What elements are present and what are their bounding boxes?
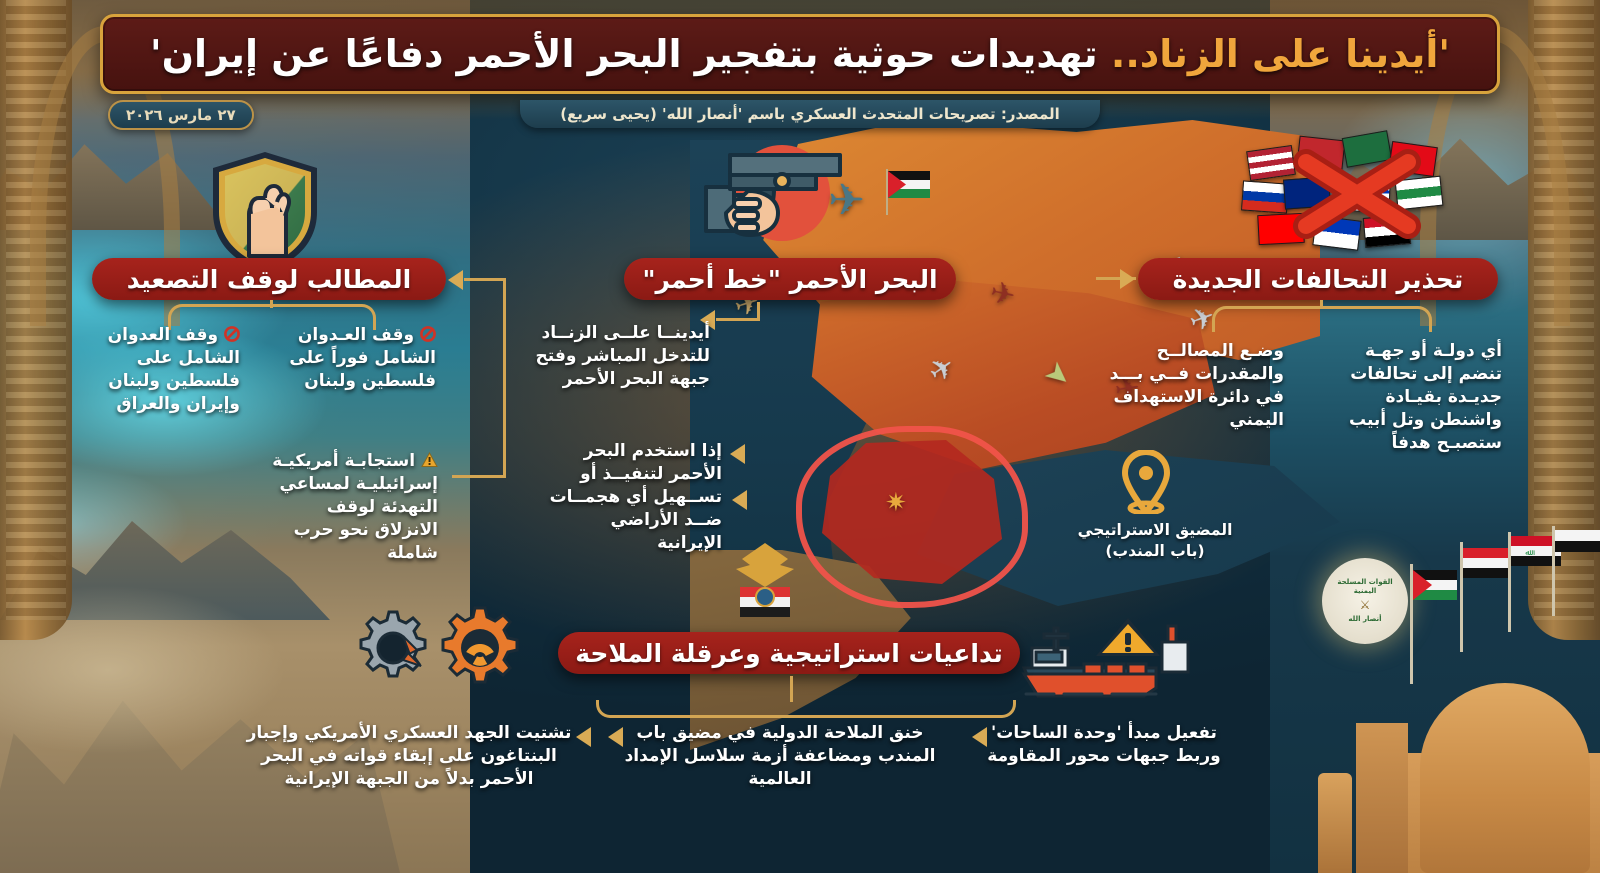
page-title-rest: تهديدات حوثية بتفجير البحر الأحمر دفاعًا… xyxy=(150,32,1111,76)
alliances-item-2: وضـع المصالــح والمقدرات فــي بـــد في د… xyxy=(1106,340,1284,432)
connector-arrow-into-alliances xyxy=(1120,269,1135,289)
section-header-demands: المطالب لوقف التصعيد xyxy=(92,258,446,300)
demands-item-3: وقف العدوان الشامل على فلسطين ولبنان وإي… xyxy=(60,324,240,416)
shield-fist-icon xyxy=(205,148,325,276)
armed-forces-emblem: القوات المسلحة اليمنية ⚔ أنصار الله xyxy=(1322,558,1408,644)
alliances-item-1: أي دولـة أو جهـة تنضم إلى تحالفات جديـدة… xyxy=(1330,340,1502,455)
flags-cluster-crossed-icon xyxy=(1240,130,1470,255)
connector-line xyxy=(464,278,506,281)
map-strait-label-line2: (باب المندب) xyxy=(1030,541,1280,562)
hand-holding-pistol-icon: ✈ xyxy=(700,135,900,253)
red-cross-out-icon xyxy=(1282,148,1432,240)
palestine-flag-icon xyxy=(884,167,932,217)
mosque-illustration: القوات المسلحة اليمنية ⚔ أنصار الله ﷲ xyxy=(1300,540,1600,873)
map-red-circle-annotation xyxy=(796,426,1028,608)
connector-brace-alliances xyxy=(1212,306,1432,332)
connector-arrow-red-sea-2 xyxy=(730,444,745,464)
map-strait-label-line1: المضيق الاستراتيجي xyxy=(1030,520,1280,541)
yemen-emblem-icon xyxy=(710,525,820,635)
date-badge: ٢٧ مارس ٢٠٢٦ xyxy=(108,100,254,130)
map-strait-label: المضيق الاستراتيجي (باب المندب) xyxy=(1030,520,1280,562)
mosque-dome xyxy=(1420,683,1590,873)
title-banner: 'أيدينا على الزناد.. تهديدات حوثية بتفجي… xyxy=(100,14,1500,94)
demands-item-3-text: وقف العدوان الشامل على فلسطين ولبنان وإي… xyxy=(108,325,240,414)
demands-item-2: استجابـة أمريكيـة إسرائيليـة لمساعي الته… xyxy=(262,450,438,565)
prohibition-icon xyxy=(420,326,436,342)
section-header-alliances: تحذير التحالفات الجديدة xyxy=(1138,258,1498,300)
flag-icon xyxy=(1550,526,1600,616)
map-pin-icon xyxy=(1120,450,1172,514)
map-target-marker: ✷ xyxy=(885,490,907,516)
prohibition-icon xyxy=(224,326,240,342)
red-sea-item-2: إذا استخدم البحر الأحمر لتنفيــذ أو تســ… xyxy=(540,440,722,555)
red-sea-item-1: أيدينــا علــى الزنــاد للتدخل المباشر و… xyxy=(532,322,710,391)
source-caption: المصدر: تصريحات المتحدث العسكري باسم 'أن… xyxy=(520,100,1100,128)
connector-line xyxy=(452,475,504,478)
mosque-tower xyxy=(1356,723,1408,873)
connector-stem-alliances xyxy=(1320,300,1323,308)
strategic-item-3: تشتيت الجهد العسكري الأمريكي وإجبار البن… xyxy=(244,722,574,791)
connector-arrow-into-demands xyxy=(448,270,463,290)
strategic-item-2: خنق الملاحة الدولية في مضيق باب المندب و… xyxy=(612,722,948,791)
page-title-highlight: 'أيدينا على الزناد.. xyxy=(1111,32,1450,76)
gears-icon-group xyxy=(345,602,535,692)
demands-item-1: وقف العـدوان الشامل فوراً على فلسطين ولب… xyxy=(258,324,436,393)
demands-item-1-text: وقف العـدوان الشامل فوراً على فلسطين ولب… xyxy=(289,325,436,391)
strategic-item-1: تفعيل مبدأ 'وحدة الساحات' وربط جبهات محو… xyxy=(968,722,1240,768)
warning-triangle-icon xyxy=(1096,618,1160,656)
page-title: 'أيدينا على الزناد.. تهديدات حوثية بتفجي… xyxy=(150,32,1450,76)
connector-line xyxy=(757,302,760,320)
emblem-line2: أنصار الله xyxy=(1328,615,1402,624)
connector-stem-demands xyxy=(270,300,273,308)
connector-arrow-red-sea-3 xyxy=(732,490,747,510)
connector-line xyxy=(503,278,506,478)
connector-line xyxy=(716,318,760,321)
broken-gear-icon xyxy=(361,612,425,676)
section-header-red-sea: البحر الأحمر "خط أحمر" xyxy=(624,258,956,300)
demands-item-2-text: استجابـة أمريكيـة إسرائيليـة لمساعي الته… xyxy=(272,451,438,563)
mosque-minaret xyxy=(1318,773,1352,873)
warning-triangle-icon xyxy=(421,452,438,468)
connector-brace-strategic xyxy=(596,700,1016,718)
connector-arrow-strategic-3 xyxy=(576,727,591,747)
cargo-ship-icon xyxy=(1010,608,1200,698)
connector-stem-strategic xyxy=(790,676,793,702)
military-plane-icon: ✈ xyxy=(828,175,865,226)
infographic-canvas: ✈ ➤ ✈ ✈ ➤ ✈ ➤ ✈ ✷ المضيق الاستراتيجي (با… xyxy=(0,0,1600,873)
emblem-line1: القوات المسلحة اليمنية xyxy=(1328,578,1402,596)
section-header-strategic: تداعيات استراتيجية وعرقلة الملاحة xyxy=(558,632,1020,674)
